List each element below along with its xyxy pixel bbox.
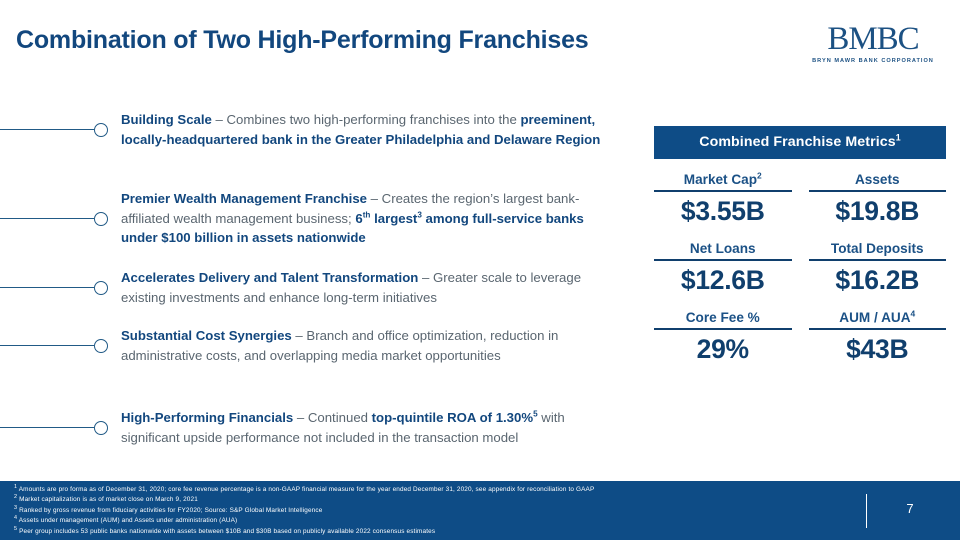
footer-divider [866,494,867,528]
footer-bar: 1 Amounts are pro forma as of December 3… [0,481,960,540]
metric-label: Core Fee % [654,310,792,330]
bullet-connector-line [0,218,94,219]
metric-cell: Market Cap2$3.55B [654,172,792,241]
metric-cell: Total Deposits$16.2B [809,241,947,310]
bullet-text: Premier Wealth Management Franchise – Cr… [121,189,621,248]
page-title: Combination of Two High-Performing Franc… [16,26,589,55]
logo-subtitle: BRYN MAWR BANK CORPORATION [808,58,938,64]
bullet-marker-circle [94,281,108,295]
bullet-text: Building Scale – Combines two high-perfo… [121,110,621,149]
metric-label: Assets [809,172,947,192]
metric-cell: Net Loans$12.6B [654,241,792,310]
page-number: 7 [890,501,930,516]
bullet-connector-line [0,427,94,428]
metrics-header-footnote-marker: 1 [896,132,901,142]
footnote-item: 4 Assets under management (AUM) and Asse… [14,516,814,526]
bullet-text: Substantial Cost Synergies – Branch and … [121,326,621,365]
bullet-text: High-Performing Financials – Continued t… [121,408,621,447]
bullet-connector-line [0,345,94,346]
bullet-connector-line [0,287,94,288]
metric-footnote-marker: 4 [911,308,916,318]
footnote-marker: 5 [14,526,17,532]
metric-value: $19.8B [809,196,947,227]
footnote-marker: 4 [14,515,17,521]
footnote-item: 2 Market capitalization is as of market … [14,495,814,505]
bullet-marker-circle [94,123,108,137]
metric-value: $12.6B [654,265,792,296]
footnote-marker: 1 [14,484,17,490]
bullet-connector-line [0,129,94,130]
bullet-marker-circle [94,212,108,226]
metric-value: 29% [654,334,792,365]
footnote-marker: 3 [14,505,17,511]
bullet-marker-circle [94,421,108,435]
metric-value: $3.55B [654,196,792,227]
metric-cell: Core Fee %29% [654,310,792,379]
bullet-list: Building Scale – Combines two high-perfo… [0,100,640,480]
metrics-grid: Market Cap2$3.55BAssets$19.8BNet Loans$1… [654,172,946,379]
metric-label: Net Loans [654,241,792,261]
metrics-header-label: Combined Franchise Metrics [699,134,896,150]
metric-label: Total Deposits [809,241,947,261]
footnotes-list: 1 Amounts are pro forma as of December 3… [14,485,814,537]
footnote-marker: 2 [14,494,17,500]
bullet-marker-circle [94,339,108,353]
metric-label: AUM / AUA4 [809,310,947,330]
metric-cell: Assets$19.8B [809,172,947,241]
metrics-panel-header: Combined Franchise Metrics1 [654,126,946,159]
metric-label: Market Cap2 [654,172,792,192]
footnote-item: 1 Amounts are pro forma as of December 3… [14,485,814,495]
combined-franchise-metrics-panel: Combined Franchise Metrics1 Market Cap2$… [654,126,946,379]
metric-footnote-marker: 2 [757,170,762,180]
bmbc-logo: BMBC BRYN MAWR BANK CORPORATION [808,24,938,64]
logo-wordmark: BMBC [808,24,938,55]
metric-value: $16.2B [809,265,947,296]
footnote-item: 5 Peer group includes 53 public banks na… [14,527,814,537]
metric-cell: AUM / AUA4$43B [809,310,947,379]
bullet-text: Accelerates Delivery and Talent Transfor… [121,268,621,307]
metric-value: $43B [809,334,947,365]
footnote-item: 3 Ranked by gross revenue from fiduciary… [14,506,814,516]
